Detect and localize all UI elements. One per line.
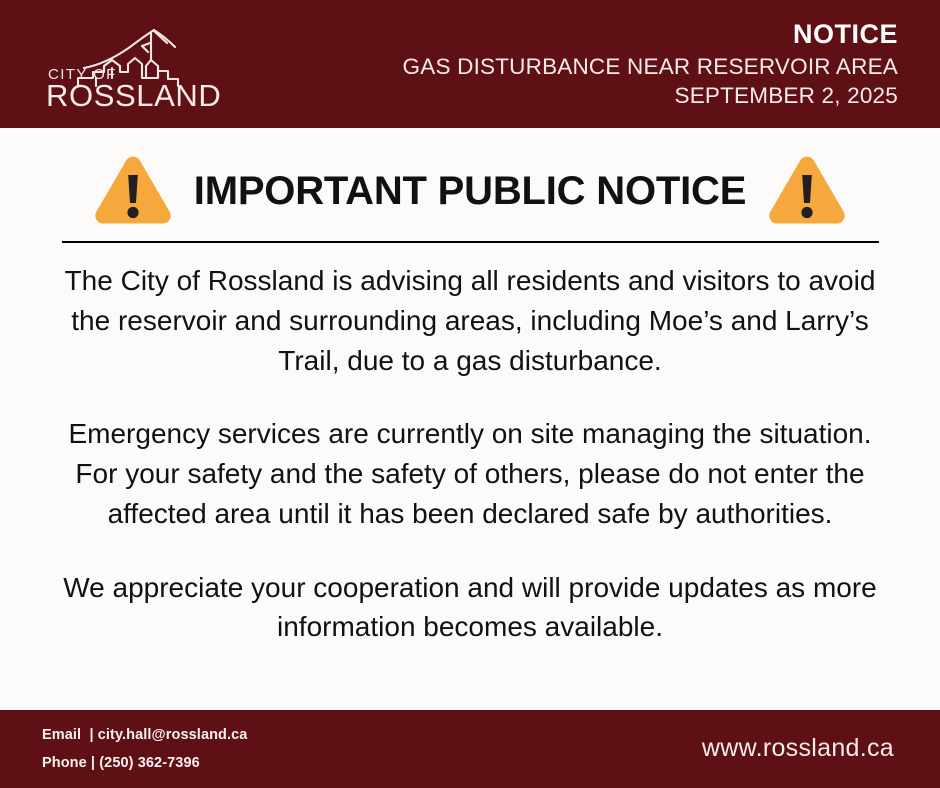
notice-title-row: IMPORTANT PUBLIC NOTICE (0, 150, 940, 232)
header-title: NOTICE (403, 18, 898, 51)
header-subtitle: GAS DISTURBANCE NEAR RESERVOIR AREA (403, 53, 898, 80)
warning-triangle-icon (764, 153, 850, 229)
notice-paragraph: Emergency services are currently on site… (50, 414, 890, 533)
warning-triangle-icon (90, 153, 176, 229)
notice-paragraph: We appreciate your cooperation and will … (50, 568, 890, 648)
notice-poster: CITY OF ROSSLAND NOTICE GAS DISTURBANCE … (0, 0, 940, 788)
page-title: IMPORTANT PUBLIC NOTICE (194, 169, 746, 214)
logo-line2: ROSSLAND (46, 78, 221, 112)
footer-website[interactable]: www.rossland.ca (702, 734, 894, 765)
footer-phone[interactable]: Phone | (250) 362-7396 (42, 749, 247, 777)
footer-contact-block: Email | city.hall@rossland.ca Phone | (2… (42, 721, 247, 778)
city-of-rossland-logo: CITY OF ROSSLAND (38, 16, 238, 112)
notice-paragraph: The City of Rossland is advising all res… (50, 261, 890, 380)
notice-body: IMPORTANT PUBLIC NOTICE The City of Ross… (0, 128, 940, 710)
header-text-block: NOTICE GAS DISTURBANCE NEAR RESERVOIR AR… (403, 18, 898, 110)
notice-paragraphs: The City of Rossland is advising all res… (50, 243, 890, 647)
footer-banner: Email | city.hall@rossland.ca Phone | (2… (0, 710, 940, 788)
footer-email[interactable]: Email | city.hall@rossland.ca (42, 721, 247, 749)
header-banner: CITY OF ROSSLAND NOTICE GAS DISTURBANCE … (0, 0, 940, 128)
header-date: SEPTEMBER 2, 2025 (403, 82, 898, 109)
